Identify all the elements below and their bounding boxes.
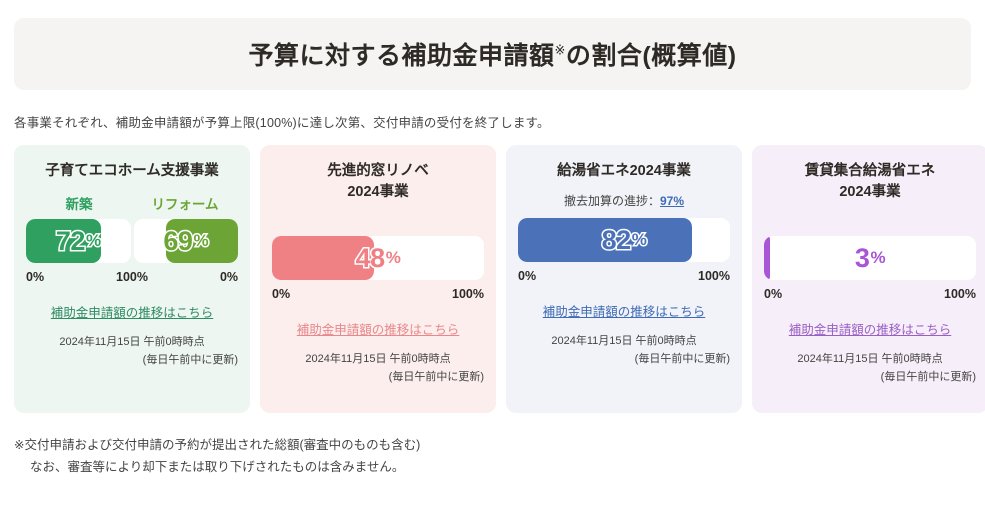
progress-value: 82%: [518, 218, 730, 262]
progress-bar: 82%: [518, 218, 730, 262]
update-timestamp: 2024年11月15日 午前0時時点 (毎日午前中に更新): [764, 351, 976, 386]
progress-bar-group: 3%: [764, 236, 976, 280]
axis-label-left: 0%: [26, 270, 97, 284]
progress-value: 48%: [272, 236, 484, 280]
axis-labels: 0% 100%: [272, 287, 484, 301]
progress-bar-shinchiku: 72%: [26, 219, 131, 263]
progress-bar: 3%: [764, 236, 976, 280]
progress-value-unit: %: [86, 231, 101, 251]
axis-label-right: 0%: [167, 270, 238, 284]
update-timestamp: 2024年11月15日 午前0時時点 (毎日午前中に更新): [272, 351, 484, 386]
axis-labels: 0% 100%: [764, 287, 976, 301]
footnote-line2: なお、審査等により却下または取り下げされたものは含みません。: [14, 457, 985, 479]
progress-value: 3%: [764, 236, 976, 280]
card-title-line1: 賃貸集合給湯省エネ: [805, 163, 936, 179]
progress-bar: 48%: [272, 236, 484, 280]
card-row: 子育てエコホーム支援事業 新築 リフォーム 72% 69%: [14, 145, 971, 413]
axis-label-left: 0%: [272, 287, 378, 301]
progress-value: 69%: [134, 219, 239, 263]
progress-value-number: 3: [855, 243, 870, 274]
progress-value-number: 82: [602, 225, 631, 256]
card-sub-labels: 新築 リフォーム: [26, 193, 238, 213]
page-title-tail: の割合(概算値): [566, 42, 737, 70]
card-kosodate-ecohome: 子育てエコホーム支援事業 新築 リフォーム 72% 69%: [14, 145, 250, 413]
timestamp-line1: 2024年11月15日 午前0時時点: [518, 333, 730, 351]
card-title-line2: 2024事業: [347, 184, 408, 200]
timestamp-line2: (毎日午前中に更新): [26, 352, 238, 370]
card-kyuto-shoene: 給湯省エネ2024事業 撤去加算の進捗：97% 82% 0% 100% 補助金申…: [506, 145, 742, 413]
timestamp-line2: (毎日午前中に更新): [764, 369, 976, 387]
sub-progress-row: 撤去加算の進捗：97%: [564, 192, 684, 209]
footnote: ※交付申請および交付申請の予約が提出された総額(審査中のものも含む) なお、審査…: [14, 435, 985, 479]
progress-bar-group: 82%: [518, 218, 730, 262]
axis-label-left: 0%: [764, 287, 870, 301]
progress-bar-group: 72% 69%: [26, 219, 238, 263]
page-title-superscript: ※: [554, 43, 565, 58]
axis-labels: 0% 100%: [518, 269, 730, 283]
progress-value-number: 72: [56, 226, 85, 257]
progress-value-number: 69: [163, 226, 192, 257]
axis-label-right: 100%: [870, 287, 976, 301]
progress-bar-reform: 69%: [134, 219, 239, 263]
card-chintai-shugo-kyuto-shoene: 賃貸集合給湯省エネ 2024事業 3% 0% 100% 補助金申請額の推移はこち…: [752, 145, 985, 413]
sub-label-shinchiku: 新築: [26, 193, 132, 213]
page-title-main: 予算に対する補助金申請額: [248, 42, 554, 70]
card-title: 賃貸集合給湯省エネ 2024事業: [805, 161, 936, 203]
sub-progress-label: 撤去加算の進捗：: [564, 194, 660, 208]
trend-link[interactable]: 補助金申請額の推移はこちら: [51, 302, 214, 321]
card-title: 給湯省エネ2024事業: [557, 161, 691, 183]
timestamp-line2: (毎日午前中に更新): [272, 369, 484, 387]
axis-labels: 0% 100% 0%: [26, 270, 238, 284]
card-senshinteki-mado-renove: 先進的窓リノベ 2024事業 48% 0% 100% 補助金申請額の推移はこちら…: [260, 145, 496, 413]
update-timestamp: 2024年11月15日 午前0時時点 (毎日午前中に更新): [518, 333, 730, 368]
lead-paragraph: 各事業それぞれ、補助金申請額が予算上限(100%)に達し次第、交付申請の受付を終…: [14, 112, 985, 131]
axis-label-left: 0%: [518, 269, 624, 283]
page-title: 予算に対する補助金申請額※の割合(概算値): [248, 36, 736, 72]
page-title-banner: 予算に対する補助金申請額※の割合(概算値): [14, 18, 971, 90]
progress-value-number: 48: [356, 243, 385, 274]
trend-link[interactable]: 補助金申請額の推移はこちら: [297, 319, 460, 338]
axis-label-right: 100%: [378, 287, 484, 301]
timestamp-line1: 2024年11月15日 午前0時時点: [272, 351, 484, 369]
timestamp-line2: (毎日午前中に更新): [518, 351, 730, 369]
trend-link[interactable]: 補助金申請額の推移はこちら: [543, 301, 706, 320]
progress-value-unit: %: [386, 248, 401, 268]
card-title-line2: 2024事業: [839, 184, 900, 200]
progress-bar-group: 48%: [272, 236, 484, 280]
card-title: 子育てエコホーム支援事業: [45, 161, 219, 183]
card-title-line1: 先進的窓リノベ: [327, 163, 429, 179]
progress-value: 72%: [26, 219, 131, 263]
update-timestamp: 2024年11月15日 午前0時時点 (毎日午前中に更新): [26, 334, 238, 369]
timestamp-line1: 2024年11月15日 午前0時時点: [26, 334, 238, 352]
timestamp-line1: 2024年11月15日 午前0時時点: [764, 351, 976, 369]
sub-progress-link[interactable]: 97%: [660, 194, 684, 208]
axis-label-center: 100%: [97, 270, 168, 284]
card-title: 先進的窓リノベ 2024事業: [327, 161, 429, 203]
progress-value-unit: %: [193, 231, 208, 251]
footnote-line1: ※交付申請および交付申請の予約が提出された総額(審査中のものも含む): [14, 438, 420, 452]
page-root: 予算に対する補助金申請額※の割合(概算値) 各事業それぞれ、補助金申請額が予算上…: [0, 18, 985, 511]
axis-label-right: 100%: [624, 269, 730, 283]
progress-value-unit: %: [870, 248, 885, 268]
sub-label-reform: リフォーム: [132, 193, 238, 213]
progress-value-unit: %: [632, 230, 647, 250]
trend-link[interactable]: 補助金申請額の推移はこちら: [789, 319, 952, 338]
